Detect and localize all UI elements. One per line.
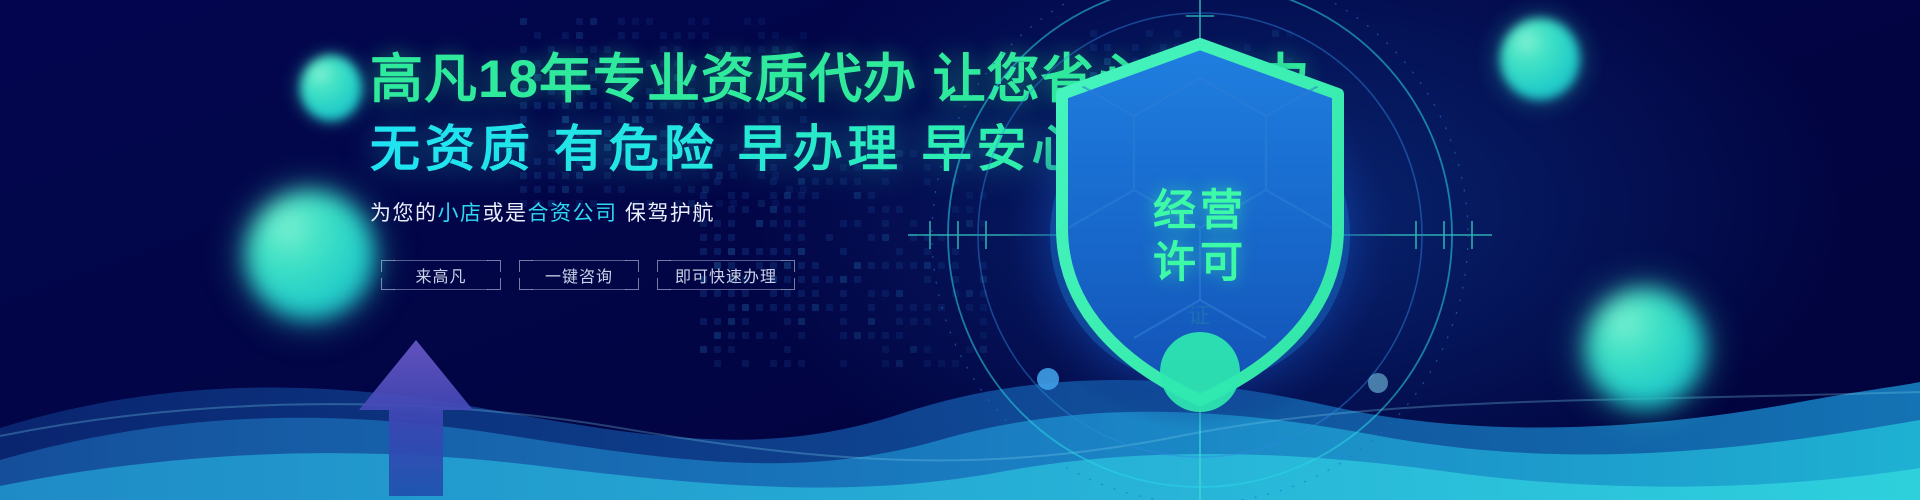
chip-row: 来高凡 一键咨询 即可快速办理 xyxy=(381,260,795,290)
corner-icon xyxy=(381,278,395,290)
orb-bottom-left xyxy=(245,190,375,320)
chip-come-gaofan[interactable]: 来高凡 xyxy=(381,260,501,290)
orb-top-left xyxy=(300,55,362,121)
chip-label: 一键咨询 xyxy=(545,263,613,287)
subtitle-highlight-1: 小店 xyxy=(438,202,483,225)
chip-label: 即可快速办理 xyxy=(675,263,777,287)
corner-icon xyxy=(625,278,639,290)
corner-icon xyxy=(519,260,533,272)
badge-circle xyxy=(1160,332,1240,412)
edge-line xyxy=(394,289,488,290)
chip-fast-processing[interactable]: 即可快速办理 xyxy=(657,260,795,290)
edge-line xyxy=(670,289,782,290)
subtitle-prefix: 为您的 xyxy=(370,202,438,225)
orbit-dot xyxy=(1037,368,1059,390)
corner-icon xyxy=(625,260,639,272)
chip-one-click-consult[interactable]: 一键咨询 xyxy=(519,260,639,290)
license-emblem: 经营 许可 证 xyxy=(880,0,1520,500)
corner-icon xyxy=(487,278,501,290)
corner-icon xyxy=(381,260,395,272)
subtitle-highlight-2: 合资公司 xyxy=(528,202,618,225)
orb-bottom-right xyxy=(1585,288,1705,408)
corner-icon xyxy=(657,278,671,290)
edge-line xyxy=(394,260,488,261)
subtitle-middle: 或是 xyxy=(483,202,528,225)
corner-icon xyxy=(781,278,795,290)
orbit-dot xyxy=(1368,373,1388,393)
edge-line xyxy=(670,260,782,261)
chip-label: 来高凡 xyxy=(415,263,466,287)
edge-line xyxy=(532,260,626,261)
promo-banner: 高凡18年专业资质代办 让您省心更省力 无资质 有危险 早办理 早安心 为您的小… xyxy=(0,0,1920,500)
corner-icon xyxy=(781,260,795,272)
subtitle-suffix: 保驾护航 xyxy=(618,202,715,225)
growth-arrow-icon xyxy=(341,336,491,496)
corner-icon xyxy=(519,278,533,290)
corner-icon xyxy=(487,260,501,272)
corner-icon xyxy=(657,260,671,272)
edge-line xyxy=(532,289,626,290)
